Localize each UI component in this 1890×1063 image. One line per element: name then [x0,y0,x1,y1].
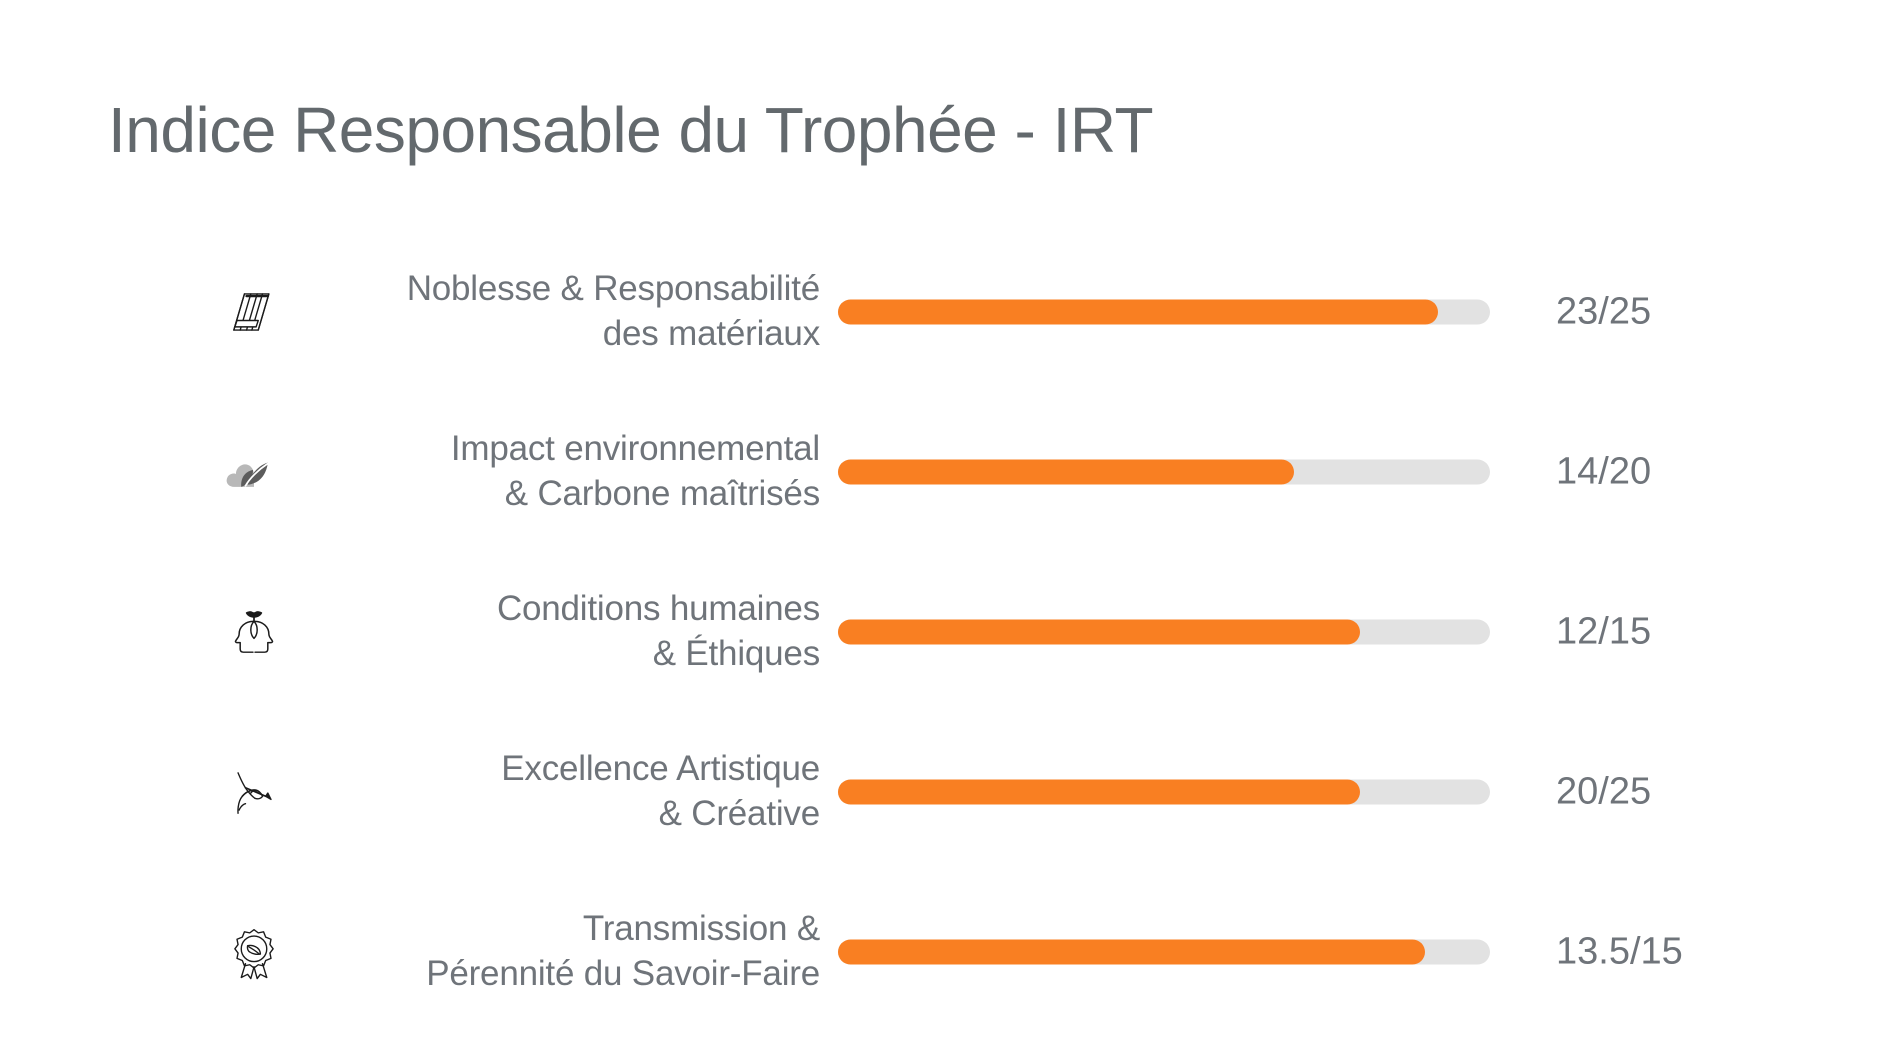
criterion-label-line2: des matériaux [300,312,820,357]
progress-fill [838,780,1360,805]
criterion-label-line1: Excellence Artistique [501,749,820,788]
progress-bar [838,780,1490,805]
wood-planks-icon [218,276,290,348]
criterion-row: Transmission & Pérennité du Savoir-Faire… [0,872,1890,1032]
progress-bar [838,940,1490,965]
criteria-list: Noblesse & Responsabilité des matériaux … [0,232,1890,1032]
progress-bar [838,460,1490,485]
criterion-label-line2: & Éthiques [300,632,820,677]
page-title: Indice Responsable du Trophée - IRT [108,95,1153,165]
criterion-row: Excellence Artistique & Créative 20/25 [0,712,1890,872]
criterion-label: Impact environnemental & Carbone maîtris… [300,427,820,517]
criterion-label-line2: & Créative [300,792,820,837]
criterion-label-line2: Pérennité du Savoir-Faire [300,952,820,997]
progress-fill [838,940,1425,965]
criterion-label-line2: & Carbone maîtrisés [300,472,820,517]
criterion-score: 20/25 [1556,771,1816,814]
criterion-score: 23/25 [1556,291,1816,334]
criterion-label-line1: Transmission & [583,909,820,948]
criterion-label: Conditions humaines & Éthiques [300,587,820,677]
criterion-label-line1: Impact environnemental [451,429,820,468]
criterion-score: 14/20 [1556,451,1816,494]
criterion-score: 12/15 [1556,611,1816,654]
progress-bar [838,300,1490,325]
cloud-leaf-icon [218,436,290,508]
progress-fill [838,300,1438,325]
criterion-label-line1: Noblesse & Responsabilité [407,269,820,308]
criterion-row: Conditions humaines & Éthiques 12/15 [0,552,1890,712]
criterion-label: Excellence Artistique & Créative [300,747,820,837]
hand-drawing-pen-icon [218,756,290,828]
progress-fill [838,620,1360,645]
criterion-score: 13.5/15 [1556,931,1816,974]
criterion-row: Impact environnemental & Carbone maîtris… [0,392,1890,552]
progress-bar [838,620,1490,645]
irt-slide: Indice Responsable du Trophée - IRT Nobl… [0,0,1890,1063]
criterion-label-line1: Conditions humaines [497,589,820,628]
progress-fill [838,460,1294,485]
award-rosette-icon [218,916,290,988]
criterion-label: Transmission & Pérennité du Savoir-Faire [300,907,820,997]
criterion-row: Noblesse & Responsabilité des matériaux … [0,232,1890,392]
criterion-label: Noblesse & Responsabilité des matériaux [300,267,820,357]
two-heads-sprout-icon [218,596,290,668]
